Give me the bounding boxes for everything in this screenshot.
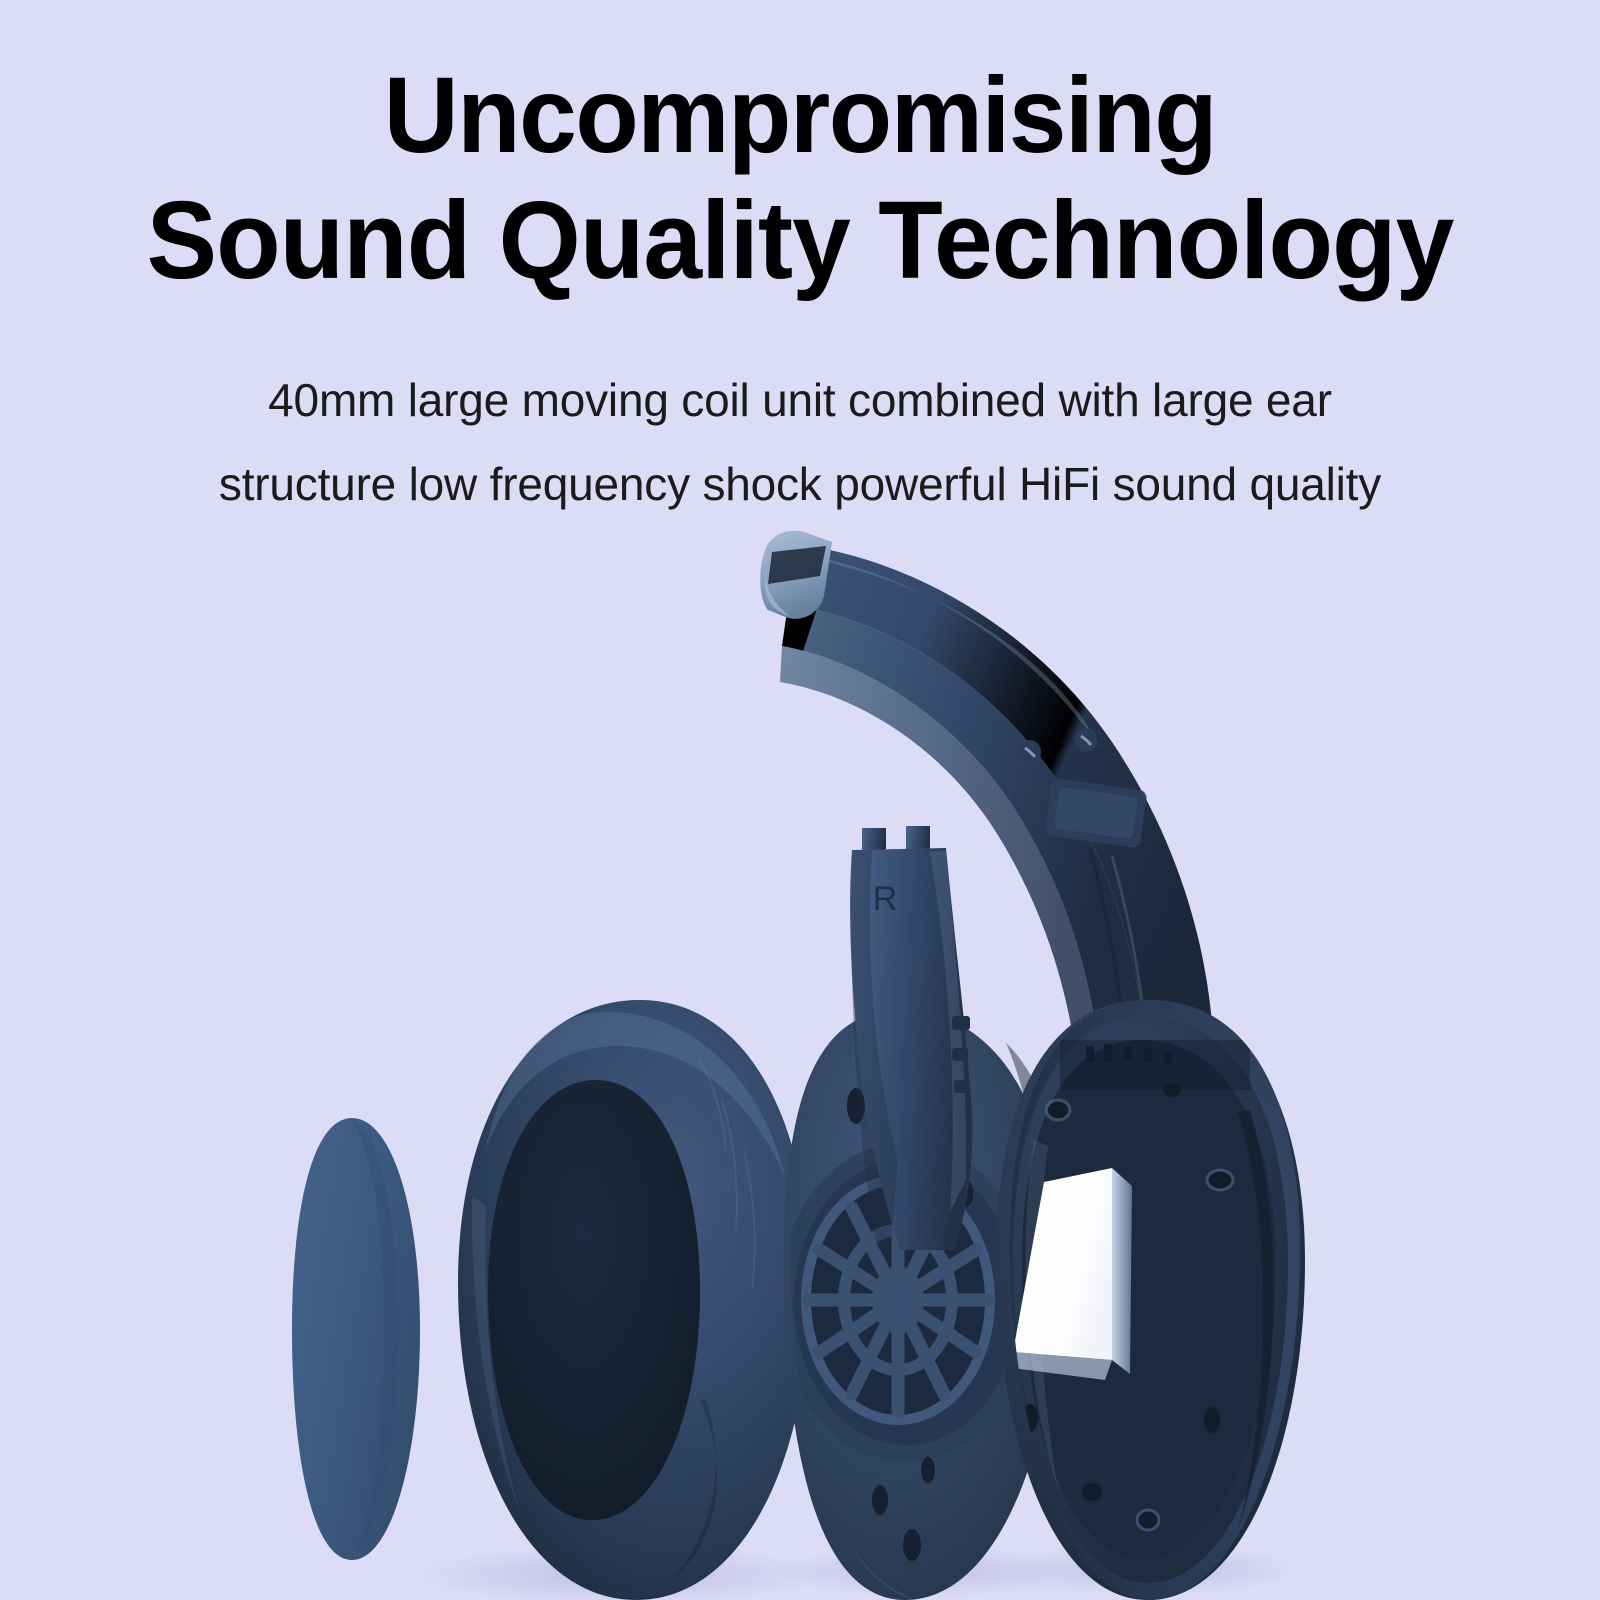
part-outer-cover-disc — [292, 1118, 420, 1560]
screw-icon — [1019, 740, 1041, 764]
part-ear-cushion-pad — [458, 1000, 810, 1600]
screw-icon — [1075, 728, 1097, 752]
part-yoke-slider-arm: R — [850, 826, 972, 1250]
product-illustration: R — [0, 0, 1600, 1600]
part-earcup-outer-shell — [996, 1000, 1305, 1600]
yoke-side-marking: R — [873, 880, 898, 918]
product-feature-banner: Uncompromising Sound Quality Technology … — [0, 0, 1600, 1600]
